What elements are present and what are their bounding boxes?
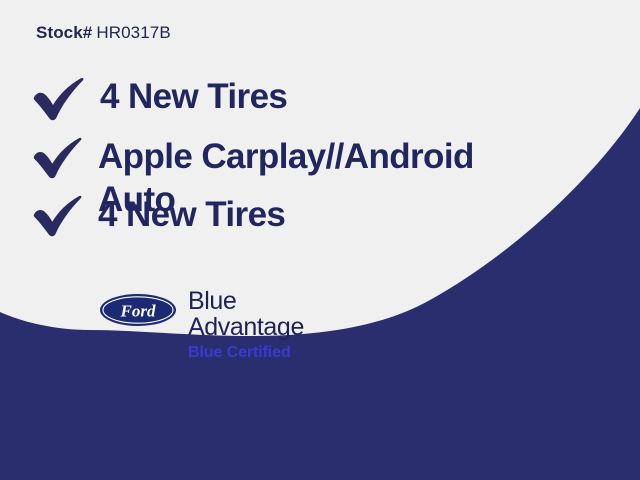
ford-oval-icon: Ford bbox=[99, 293, 177, 327]
blue-advantage-wordmark: Blue Advantage Blue Certified bbox=[188, 288, 304, 363]
feature-label: 4 New Tires bbox=[98, 192, 285, 236]
ford-script: Ford bbox=[120, 302, 156, 321]
checkmark-icon bbox=[28, 74, 90, 122]
stock-label: Stock# bbox=[36, 23, 92, 42]
blue-certified-label: Blue Certified bbox=[188, 343, 304, 363]
blue-advantage-line2: Advantage bbox=[188, 314, 304, 340]
checkmark-icon bbox=[28, 192, 88, 238]
vehicle-feature-card: Stock#HR0317B 4 New Tires Apple Carplay/… bbox=[0, 0, 640, 480]
checkmark-icon bbox=[28, 134, 88, 180]
blue-advantage-line1: Blue bbox=[188, 288, 304, 314]
stock-number: Stock#HR0317B bbox=[36, 23, 171, 43]
ford-blue-advantage-logo: Ford Blue Advantage Blue Certified bbox=[99, 288, 304, 363]
feature-label: 4 New Tires bbox=[100, 74, 287, 118]
feature-row: 4 New Tires bbox=[28, 74, 287, 122]
feature-row: 4 New Tires bbox=[28, 192, 285, 238]
stock-value: HR0317B bbox=[96, 23, 170, 42]
white-curved-panel bbox=[0, 0, 640, 480]
